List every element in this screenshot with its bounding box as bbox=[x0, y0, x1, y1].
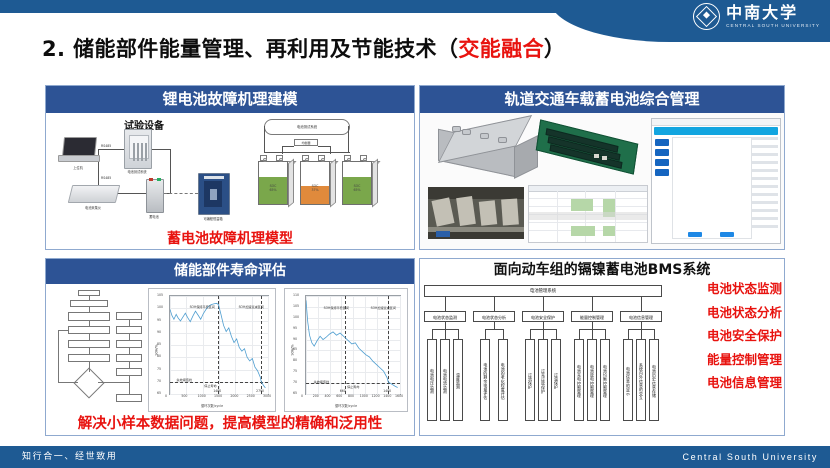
flowchart-decision bbox=[73, 367, 104, 398]
chart-annotation: SOH加速衰减区间 bbox=[239, 304, 264, 309]
bms-leaf-node: 电池电压监测 bbox=[427, 339, 437, 421]
device-label-acquisition: 电池采集仪 bbox=[68, 205, 118, 210]
bms-leaf-node: 电池信息的显示 bbox=[623, 339, 633, 421]
chart-annotation: 停止寿命 bbox=[347, 384, 359, 389]
flowchart-node bbox=[116, 340, 142, 348]
soc-label-2: SOC37% bbox=[300, 184, 330, 192]
bms-branch-node: 能量控制管理 bbox=[571, 311, 613, 322]
link-label-rs485-1: RS485 bbox=[101, 144, 111, 148]
bms-function-highlights: 电池状态监测电池状态分析电池安全保护能量控制管理电池信息管理 bbox=[674, 283, 782, 401]
panel-bms-system: 面向动车组的镉镍蓄电池BMS系统 电池管理系统电池状态监测电池电压监测电池电流监… bbox=[419, 258, 785, 436]
bms-leaf-node: 电池放电控制管理 bbox=[587, 339, 597, 421]
tree-connector bbox=[445, 297, 446, 311]
bms-leaf-node: 电池的剩余电量评估 bbox=[480, 339, 490, 421]
battery-cell-2-fault: SOC37% bbox=[300, 161, 330, 205]
cell-terminal bbox=[276, 155, 283, 161]
cell-terminal bbox=[318, 155, 325, 161]
y-tick-label: 95 bbox=[157, 318, 161, 322]
y-tick-label: 70 bbox=[293, 380, 297, 384]
chart-annotation: SOH加速衰减区间 bbox=[371, 305, 396, 310]
bms-branch-node: 电池信息管理 bbox=[620, 311, 662, 322]
bms-pcb-3d-render bbox=[538, 121, 643, 177]
tree-connector bbox=[503, 329, 504, 339]
bms-highlight-item: 能量控制管理 bbox=[674, 354, 782, 367]
y-tick-label: 65 bbox=[293, 391, 297, 395]
bms-leaf-node: 过充过放保护 bbox=[538, 339, 548, 421]
bms-leaf-node: 系统内外信息的交互 bbox=[636, 339, 646, 421]
panel-tl-title: 锂电池故障机理建模 bbox=[46, 86, 414, 113]
wire bbox=[264, 126, 265, 152]
wire bbox=[348, 126, 349, 152]
y-tick-label: 70 bbox=[157, 379, 161, 383]
bms-leaf-node: 过温保护 bbox=[551, 339, 561, 421]
bms-branch-node: 电池状态分析 bbox=[473, 311, 515, 322]
soh-degradation-chart-2: 6601400SOH保持平稳区间SOH加速衰减区间失效阈值线停止寿命020040… bbox=[284, 288, 408, 412]
battery-cell-3: SOC65% bbox=[342, 161, 372, 205]
flowchart-node bbox=[68, 354, 110, 362]
panel-lithium-fault-modeling: 锂电池故障机理建模 试验设备 上位机 RS485 bbox=[45, 85, 415, 250]
panel-bl-title: 储能部件寿命评估 bbox=[46, 259, 414, 284]
soc-label-3: SOC65% bbox=[342, 184, 372, 192]
plot-area: 6601400SOH保持平稳区间SOH加速衰减区间失效阈值线停止寿命 bbox=[305, 295, 401, 395]
panel-bl-caption: 解决小样本数据问题，提高模型的精确和泛用性 bbox=[46, 412, 414, 433]
device-label-chamber: 可编程恒温箱 bbox=[192, 216, 234, 221]
bms-branch-node: 电池安全保护 bbox=[522, 311, 564, 322]
flowchart-node bbox=[116, 354, 142, 362]
app-action-button[interactable] bbox=[720, 232, 734, 237]
sidebar-item[interactable] bbox=[655, 159, 669, 166]
plot-area: 14802790SOH保持平稳区间SOH加速衰减区间失效阈值线停止寿命 bbox=[169, 295, 269, 395]
battery-cell-1: SOC65% bbox=[258, 161, 288, 205]
title-main: 2. 储能部件能量管理、再利用及节能技术 bbox=[42, 37, 437, 61]
soc-label-1: SOC65% bbox=[258, 184, 288, 192]
panel-life-assessment: 储能部件寿命评估 14802790SOH保持平稳区间SOH加速衰减区间失效阈值线… bbox=[45, 258, 415, 436]
y-axis-label: SOH/% bbox=[291, 344, 295, 355]
flowchart-feedback bbox=[58, 382, 78, 383]
y-tick-label: 90 bbox=[157, 330, 161, 334]
chart-annotation: 失效阈值线 bbox=[177, 377, 192, 382]
title-paren-close: ） bbox=[544, 37, 565, 61]
bms-highlight-item: 电池状态分析 bbox=[674, 307, 782, 320]
flowchart-node bbox=[68, 340, 110, 348]
y-tick-label: 80 bbox=[293, 358, 297, 362]
data-spreadsheet bbox=[528, 185, 648, 243]
tree-connector bbox=[485, 329, 502, 330]
chart-annotation: SOH保持平稳区间 bbox=[190, 304, 215, 309]
device-label-battery: 蓄电池 bbox=[140, 214, 168, 219]
flowchart-connector bbox=[89, 362, 90, 372]
device-label-host-computer: 上位机 bbox=[58, 165, 98, 170]
y-tick-label: 100 bbox=[157, 305, 163, 309]
tree-connector bbox=[641, 329, 642, 339]
panel-tr-body bbox=[420, 113, 784, 249]
y-tick-label: 110 bbox=[293, 293, 299, 297]
x-tick-label: 800 bbox=[348, 394, 354, 398]
y-tick-label: 105 bbox=[293, 304, 299, 308]
y-tick-label: 95 bbox=[293, 326, 297, 330]
sidebar-item[interactable] bbox=[655, 139, 669, 146]
bms-leaf-node: 电池充电控制管理 bbox=[574, 339, 584, 421]
app-info-panel bbox=[752, 137, 778, 239]
panel-tl-body: 试验设备 上位机 RS485 bbox=[46, 113, 414, 249]
bms-highlight-item: 电池状态监测 bbox=[674, 283, 782, 296]
tree-connector bbox=[445, 322, 446, 329]
y-axis-label: SOH/% bbox=[155, 344, 159, 355]
wire bbox=[170, 149, 171, 193]
wire bbox=[330, 146, 331, 154]
field-installation-photo bbox=[428, 187, 524, 239]
tree-connector bbox=[628, 329, 629, 339]
bms-leaf-node: 电池均衡控制管理 bbox=[600, 339, 610, 421]
tree-connector bbox=[579, 329, 580, 339]
bms-tree: 电池管理系统电池状态监测电池电压监测电池电流监测温度监测电池状态分析电池的剩余电… bbox=[424, 281, 662, 431]
footer-university: Central South University bbox=[683, 446, 818, 468]
x-tick-label: 600 bbox=[336, 394, 342, 398]
flowchart-connector bbox=[129, 376, 130, 394]
y-tick-label: 65 bbox=[157, 391, 161, 395]
life-estimation-algorithm-flowchart bbox=[56, 288, 142, 414]
footer-motto: 知行合一、经世致用 bbox=[22, 446, 117, 468]
tree-connector bbox=[556, 329, 557, 339]
chart-annotation: 停止寿命 bbox=[204, 383, 216, 388]
tree-connector bbox=[543, 329, 544, 339]
tree-connector bbox=[592, 329, 593, 339]
sidebar-item[interactable] bbox=[655, 149, 669, 156]
wire bbox=[150, 149, 170, 150]
app-titlebar bbox=[652, 119, 780, 126]
x-tick-label: 400 bbox=[325, 394, 331, 398]
bms-leaf-node: 电池电流监测 bbox=[440, 339, 450, 421]
bms-highlight-item: 电池信息管理 bbox=[674, 377, 782, 390]
tree-connector bbox=[543, 322, 544, 329]
x-tick-label: 3000 bbox=[263, 394, 271, 398]
app-sidebar bbox=[655, 139, 669, 179]
panel-br-title: 面向动车组的镉镍蓄电池BMS系统 bbox=[420, 259, 784, 281]
x-tick-label: 1500 bbox=[214, 394, 222, 398]
bms-leaf-node: 过流保护 bbox=[525, 339, 535, 421]
y-tick-label: 100 bbox=[293, 315, 299, 319]
bms-root-node: 电池管理系统 bbox=[424, 285, 662, 297]
logo-cn-name: 中南大学 bbox=[726, 5, 820, 21]
wire-dashed bbox=[164, 193, 198, 195]
flowchart-node bbox=[116, 394, 142, 402]
title-paren-open: （ bbox=[437, 37, 458, 61]
cell-terminal bbox=[260, 155, 267, 161]
x-tick-label: 0 bbox=[165, 394, 167, 398]
wire bbox=[116, 193, 146, 194]
tree-connector bbox=[641, 322, 642, 329]
bms-leaf-node: 电池历史信息存储 bbox=[649, 339, 659, 421]
x-axis-label: 循环次数/cycle bbox=[285, 403, 407, 408]
cell-terminal bbox=[344, 155, 351, 161]
wire bbox=[98, 149, 124, 150]
tree-connector bbox=[605, 329, 606, 339]
flowchart-node bbox=[68, 312, 110, 321]
gridline bbox=[400, 296, 401, 394]
app-ribbon bbox=[654, 127, 778, 135]
test-system-node: 电池测试系统 bbox=[264, 119, 350, 135]
x-tick-label: 1000 bbox=[198, 394, 206, 398]
app-cell-matrix bbox=[672, 137, 752, 239]
tree-connector bbox=[654, 329, 655, 339]
bms-highlight-item: 电池安全保护 bbox=[674, 330, 782, 343]
link-label-rs485-2: RS485 bbox=[101, 176, 111, 180]
slide: 中南大学 CENTRAL SOUTH UNIVERSITY 2. 储能部件能量管… bbox=[0, 0, 830, 468]
device-label-test-system: 电池测试系统 bbox=[118, 169, 156, 174]
tree-connector bbox=[445, 329, 446, 339]
panel-rail-transit-battery-management: 轨道交通车载蓄电池综合管理 bbox=[419, 85, 785, 250]
app-action-button[interactable] bbox=[688, 232, 702, 237]
balancer-node: 均衡器 bbox=[294, 139, 318, 146]
tree-connector bbox=[432, 329, 433, 339]
test-system-node-label: 电池测试系统 bbox=[265, 120, 349, 134]
x-tick-label: 1400 bbox=[383, 394, 391, 398]
x-tick-label: 200 bbox=[313, 394, 319, 398]
tree-connector bbox=[458, 329, 459, 339]
gridline bbox=[268, 296, 269, 394]
battery-box-3d-render bbox=[438, 125, 538, 171]
x-axis-label: 循环次数/cycle bbox=[149, 403, 275, 408]
y-tick-label: 75 bbox=[293, 369, 297, 373]
tree-connector bbox=[494, 322, 495, 329]
page-title: 2. 储能部件能量管理、再利用及节能技术（交能融合） bbox=[42, 33, 565, 63]
x-tick-label: 2000 bbox=[230, 394, 238, 398]
bms-leaf-node: 温度监测 bbox=[453, 339, 463, 421]
x-tick-label: 0 bbox=[301, 394, 303, 398]
csu-logo: 中南大学 CENTRAL SOUTH UNIVERSITY bbox=[693, 3, 820, 30]
title-highlight: 交能融合 bbox=[458, 37, 544, 61]
soh-degradation-chart-1: 14802790SOH保持平稳区间SOH加速衰减区间失效阈值线停止寿命05001… bbox=[148, 288, 276, 412]
y-tick-label: 75 bbox=[157, 367, 161, 371]
footer: 知行合一、经世致用 Central South University bbox=[0, 446, 830, 468]
data-acquisition-unit-icon bbox=[68, 185, 120, 203]
x-tick-label: 1600 bbox=[395, 394, 403, 398]
bms-architecture: 电池管理系统电池状态监测电池电压监测电池电流监测温度监测电池状态分析电池的剩余电… bbox=[420, 281, 784, 437]
bms-monitoring-software bbox=[651, 118, 781, 244]
sidebar-item[interactable] bbox=[655, 169, 669, 176]
wire bbox=[282, 146, 294, 147]
thermal-chamber-icon bbox=[198, 173, 230, 215]
cell-terminal bbox=[302, 155, 309, 161]
tree-connector bbox=[485, 329, 486, 339]
host-computer-icon bbox=[58, 137, 98, 163]
flowchart-node bbox=[68, 326, 110, 334]
battery-test-system-icon bbox=[124, 129, 152, 169]
chart-annotation: 失效阈值线 bbox=[314, 379, 329, 384]
x-tick-label: 1000 bbox=[360, 394, 368, 398]
tree-connector bbox=[592, 297, 593, 311]
panel-tr-title: 轨道交通车载蓄电池综合管理 bbox=[420, 86, 784, 113]
wire bbox=[264, 152, 350, 153]
tree-connector bbox=[494, 297, 495, 311]
wire bbox=[318, 146, 330, 147]
flowchart-node bbox=[116, 326, 142, 334]
panel-tl-caption: 蓄电池故障机理模型 bbox=[46, 228, 414, 248]
bms-branch-node: 电池状态监测 bbox=[424, 311, 466, 322]
storage-battery-icon bbox=[146, 179, 164, 213]
flowchart-feedback bbox=[58, 330, 59, 382]
csu-emblem-icon bbox=[693, 3, 720, 30]
tree-connector bbox=[641, 297, 642, 311]
flowchart-node bbox=[116, 368, 142, 376]
tree-connector bbox=[530, 329, 531, 339]
flowchart-node bbox=[116, 312, 142, 320]
tree-connector bbox=[592, 322, 593, 329]
y-tick-label: 105 bbox=[157, 293, 163, 297]
wire bbox=[282, 146, 283, 154]
tree-connector bbox=[543, 297, 544, 311]
x-tick-label: 500 bbox=[181, 394, 187, 398]
flowchart-feedback bbox=[58, 330, 68, 331]
x-tick-label: 2500 bbox=[247, 394, 255, 398]
flowchart-node bbox=[70, 300, 108, 307]
x-tick-label: 1200 bbox=[372, 394, 380, 398]
panel-bl-body: 14802790SOH保持平稳区间SOH加速衰减区间失效阈值线停止寿命05001… bbox=[46, 284, 414, 435]
balancer-node-label: 均衡器 bbox=[295, 140, 317, 147]
chart-annotation: SOH保持平稳区间 bbox=[324, 305, 349, 310]
y-tick-label: 90 bbox=[293, 337, 297, 341]
bms-leaf-node: 电池的老化程度评估 bbox=[498, 339, 508, 421]
cell-terminal bbox=[360, 155, 367, 161]
flowchart-connector bbox=[98, 382, 129, 383]
logo-en-name: CENTRAL SOUTH UNIVERSITY bbox=[726, 24, 820, 29]
